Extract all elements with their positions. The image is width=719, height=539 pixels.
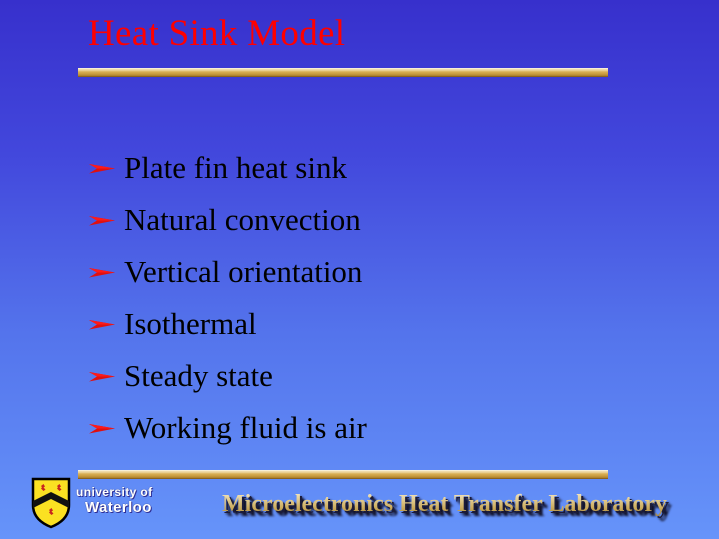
lab-name-banner: Microelectronics Heat Transfer Laborator… xyxy=(222,489,667,519)
uw-wordmark: university of Waterloo xyxy=(76,484,196,516)
list-item-label: Isothermal xyxy=(124,307,257,341)
list-item-label: Steady state xyxy=(124,359,273,393)
list-item: Isothermal xyxy=(88,298,668,350)
arrow-bullet-icon xyxy=(88,417,124,439)
list-item: Natural convection xyxy=(88,194,668,246)
list-item: Vertical orientation xyxy=(88,246,668,298)
list-item-label: Working fluid is air xyxy=(124,411,367,445)
uw-shield-icon xyxy=(30,477,72,529)
list-item: Working fluid is air xyxy=(88,402,668,454)
bullet-list: Plate fin heat sink Natural convection V… xyxy=(88,142,668,454)
arrow-bullet-icon xyxy=(88,365,124,387)
list-item-label: Plate fin heat sink xyxy=(124,151,347,185)
list-item: Steady state xyxy=(88,350,668,402)
arrow-bullet-icon xyxy=(88,313,124,335)
arrow-bullet-icon xyxy=(88,157,124,179)
uw-wordmark-line-1: university of xyxy=(76,484,196,500)
uw-wordmark-line-2: Waterloo xyxy=(76,500,196,516)
list-item: Plate fin heat sink xyxy=(88,142,668,194)
presentation-slide: Heat Sink Model Plate fin heat sink Natu… xyxy=(0,0,719,539)
list-item-label: Natural convection xyxy=(124,203,361,237)
list-item-label: Vertical orientation xyxy=(124,255,362,289)
slide-title: Heat Sink Model xyxy=(88,12,345,56)
arrow-bullet-icon xyxy=(88,209,124,231)
arrow-bullet-icon xyxy=(88,261,124,283)
title-divider-bar xyxy=(78,68,608,77)
footer-divider-bar xyxy=(78,470,608,479)
